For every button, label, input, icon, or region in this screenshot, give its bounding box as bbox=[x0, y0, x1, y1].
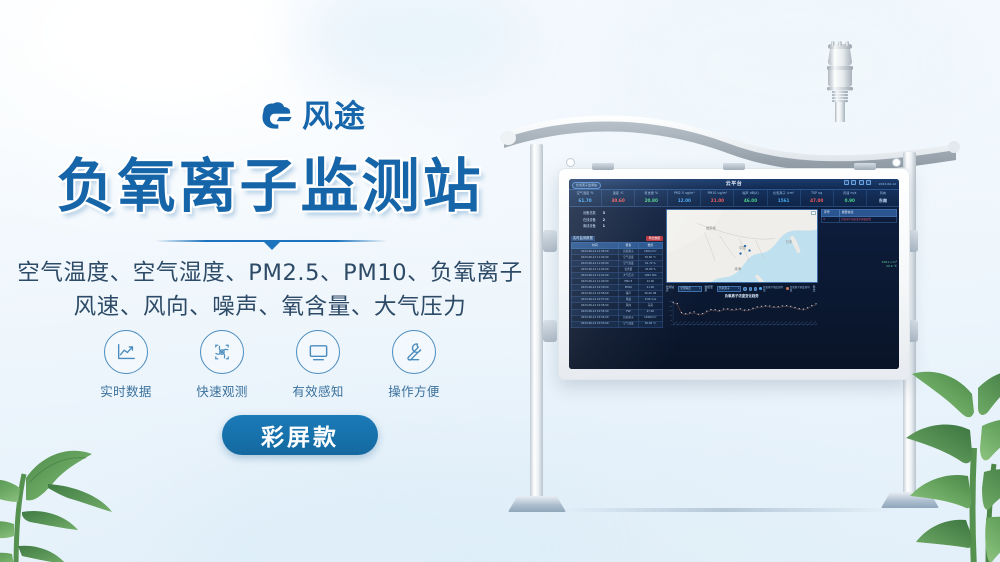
brand-name: 风途 bbox=[302, 102, 366, 133]
feature-label: 快速观测 bbox=[191, 381, 253, 400]
table-cell: 空气温度 bbox=[618, 321, 638, 327]
brand-logo: 风途 bbox=[255, 100, 366, 134]
select-value: 负氧离子 bbox=[719, 287, 730, 290]
kpi-value: 46.00 bbox=[734, 198, 766, 203]
monitoring-station-kiosk: 负氧离子监测站 云平台 2023-06-12 空气湿度 % bbox=[500, 40, 960, 540]
layers-icon[interactable] bbox=[844, 180, 849, 185]
lcd-screen: 负氧离子监测站 云平台 2023-06-12 空气湿度 % bbox=[569, 179, 899, 369]
kpi-value: 47.00 bbox=[801, 198, 833, 203]
right-panel-readouts: 1561 /cm³ 30.6 ℃ bbox=[821, 261, 897, 269]
kpi-value: 1561 bbox=[768, 198, 800, 203]
dashboard-toolbar bbox=[844, 180, 872, 185]
feature-realtime-data[interactable]: 实时数据 bbox=[95, 330, 157, 400]
view-toggle-1[interactable] bbox=[743, 287, 746, 290]
legend-item-1: 负氧离子浓度实时值 bbox=[759, 286, 784, 292]
kpi-tile: 温度 ℃ 30.60 bbox=[602, 190, 635, 206]
display-cabinet: 负氧离子监测站 云平台 2023-06-12 空气湿度 % bbox=[558, 168, 910, 380]
kpi-label: 空气湿度 % bbox=[569, 192, 601, 196]
alarm-row: 1 负氧离子浓度低于阈值报警 bbox=[821, 217, 897, 223]
parameter-list: 空气温度、空气湿度、PM2.5、PM10、负氧离子 风速、风向、噪声、氧含量、大… bbox=[0, 256, 540, 324]
svg-text:1440: 1440 bbox=[669, 310, 672, 312]
counter-label: 在线设备 bbox=[583, 218, 596, 222]
kpi-value: 61.70 bbox=[569, 198, 601, 203]
svg-text:南海: 南海 bbox=[734, 266, 741, 271]
table-cell: 30.40 ℃ bbox=[639, 321, 663, 327]
divider bbox=[0, 236, 540, 250]
dashboard-left-panel: 设备总数 3 在线设备 2 离线设备 1 bbox=[569, 207, 665, 369]
line-chart-icon bbox=[115, 341, 137, 363]
feature-icon-ring bbox=[392, 330, 436, 374]
kpi-value: 30.60 bbox=[602, 198, 634, 203]
parameter-line-2: 风速、风向、噪声、氧含量、大气压力 bbox=[0, 290, 540, 324]
kpi-tile: 风速 m/s 0.90 bbox=[834, 190, 867, 206]
dashboard-timestamp: 2023-06-12 bbox=[879, 183, 896, 187]
device-counters: 设备总数 3 在线设备 2 离线设备 1 bbox=[571, 209, 663, 233]
feature-label: 实时数据 bbox=[95, 381, 157, 400]
cloud-wind-logo-icon bbox=[255, 100, 295, 134]
kpi-label: 风向 bbox=[867, 192, 899, 196]
svg-text:日本: 日本 bbox=[785, 239, 792, 244]
dashboard-body: 设备总数 3 在线设备 2 离线设备 1 bbox=[569, 207, 899, 369]
base-plate-right bbox=[881, 492, 939, 508]
variant-badge-color-screen[interactable]: 彩屏款 bbox=[222, 415, 378, 455]
mount-ring-right bbox=[892, 158, 901, 167]
kpi-tile: 空气湿度 % 61.70 bbox=[569, 190, 602, 206]
feature-easy-operation[interactable]: 操作方便 bbox=[383, 330, 445, 400]
table-body: 2023-06-12 11:05:00负氧离子1561/cm³2023-06-1… bbox=[572, 249, 663, 327]
kpi-value: 东南 bbox=[867, 198, 899, 203]
view-toggle-3[interactable] bbox=[754, 287, 757, 290]
legend-label: 负氧离子浓度实时值 bbox=[763, 286, 784, 292]
counter-label: 设备总数 bbox=[583, 211, 596, 215]
gear-icon[interactable] bbox=[866, 180, 871, 185]
marketing-copy-column: 风途 负氧离子监测站 空气温度、空气湿度、PM2.5、PM10、负氧离子 风速、… bbox=[0, 0, 540, 562]
kpi-strip: 空气湿度 % 61.70 温度 ℃ 30.60 氧含量 % 20.80 PM bbox=[569, 190, 899, 207]
wrench-icon bbox=[403, 341, 425, 363]
view-toggle-2[interactable] bbox=[749, 287, 752, 290]
kpi-label: 风速 m/s bbox=[834, 192, 866, 196]
table-icon[interactable] bbox=[859, 180, 864, 185]
kpi-label: PM10 ug/m³ bbox=[701, 192, 733, 196]
counter-row: 在线设备 2 bbox=[583, 218, 663, 222]
kpi-label: PM2.5 ug/m³ bbox=[668, 192, 700, 196]
kpi-label: 噪声 dB(A) bbox=[734, 192, 766, 196]
export-data-button[interactable]: 导出数据 bbox=[646, 236, 663, 241]
map-controls: 监测站点 全部站点 ▾ 数据要素 负氧离子 ▾ bbox=[666, 286, 818, 293]
kpi-tile: 负氧离子 /cm³ 1561 bbox=[768, 190, 801, 206]
element-select[interactable]: 负氧离子 ▾ bbox=[717, 286, 741, 292]
feature-label: 有效感知 bbox=[287, 381, 349, 400]
svg-text:2400: 2400 bbox=[669, 301, 672, 303]
alarm-index: 1 bbox=[822, 217, 840, 222]
chevron-down-icon: ▾ bbox=[738, 287, 739, 290]
feature-list: 实时数据 bbox=[0, 330, 540, 400]
counter-label: 离线设备 bbox=[583, 224, 596, 228]
radar-scan-icon bbox=[211, 341, 233, 363]
page-title: 负氧离子监测站 bbox=[0, 156, 540, 217]
kpi-value: 21.00 bbox=[701, 198, 733, 203]
kpi-tile: 风向 东南 bbox=[867, 190, 899, 206]
map-landmass: 中国 俄罗斯 日本 南海 bbox=[667, 210, 817, 283]
mount-tab-right bbox=[854, 163, 876, 170]
mount-bracket-left-lower bbox=[543, 320, 557, 342]
realtime-data-table: 时间 要素 数值 2023-06-12 11:05:00负氧离子1561/cm³… bbox=[571, 242, 663, 327]
feature-icon-ring bbox=[104, 330, 148, 374]
station-map[interactable]: 中国 俄罗斯 日本 南海 bbox=[666, 209, 818, 283]
counter-value: 3 bbox=[603, 211, 605, 215]
dashboard-right-panel: 序号 报警信息 1 负氧离子浓度低于阈值报警 1561 /cm³ 30.6 ℃ bbox=[820, 207, 899, 369]
kpi-label: TSP ug bbox=[801, 192, 833, 196]
parameter-line-1: 空气温度、空气湿度、PM2.5、PM10、负氧离子 bbox=[0, 256, 540, 290]
export-link[interactable]: 导出 bbox=[813, 286, 818, 293]
feature-icon-ring bbox=[296, 330, 340, 374]
base-plate-left bbox=[508, 496, 566, 512]
kpi-tile: TSP ug 47.00 bbox=[801, 190, 834, 206]
kpi-tile: 氧含量 % 20.80 bbox=[635, 190, 668, 206]
table-row[interactable]: 2023-06-12 10:53:00空气温度30.40 ℃ bbox=[572, 321, 663, 327]
kpi-tile: PM10 ug/m³ 21.00 bbox=[701, 190, 734, 206]
chart-icon[interactable] bbox=[851, 180, 856, 185]
caret-down-icon bbox=[264, 242, 280, 250]
monitor-screen-icon bbox=[307, 341, 330, 364]
select-value: 全部站点 bbox=[680, 287, 691, 290]
kpi-value: 0.90 bbox=[834, 198, 866, 203]
product-banner: 风途 负氧离子监测站 空气温度、空气湿度、PM2.5、PM10、负氧离子 风速、… bbox=[0, 0, 1000, 562]
counter-row: 离线设备 1 bbox=[583, 224, 663, 228]
legend-swatch bbox=[786, 287, 789, 290]
svg-text:960: 960 bbox=[670, 315, 672, 317]
feature-effective-sensing[interactable]: 有效感知 bbox=[287, 330, 349, 400]
kpi-value: 20.80 bbox=[635, 198, 667, 203]
support-post-left bbox=[530, 144, 543, 502]
mount-tab-center bbox=[723, 163, 745, 170]
station-select[interactable]: 全部站点 ▾ bbox=[678, 286, 702, 292]
column-header: 报警信息 bbox=[840, 210, 856, 216]
column-header: 序号 bbox=[822, 210, 840, 216]
kpi-tile: 噪声 dB(A) 46.00 bbox=[734, 190, 767, 206]
cloud-platform-dashboard: 负氧离子监测站 云平台 2023-06-12 空气湿度 % bbox=[569, 179, 899, 369]
table-cell: 2023-06-12 10:53:00 bbox=[572, 321, 619, 327]
kpi-tile: PM2.5 ug/m³ 12.00 bbox=[668, 190, 701, 206]
table-header-bar: 实时监测数据 导出数据 bbox=[571, 236, 663, 241]
alarm-table-head: 序号 报警信息 bbox=[821, 209, 897, 217]
legend-label: 负氧离子浓度日均值 bbox=[790, 286, 811, 292]
mount-tab-left bbox=[592, 163, 614, 170]
map-zoom-icon[interactable] bbox=[811, 211, 816, 215]
svg-text:0: 0 bbox=[671, 324, 672, 326]
kpi-label: 温度 ℃ bbox=[602, 192, 634, 196]
dashboard-header: 负氧离子监测站 云平台 2023-06-12 bbox=[569, 179, 899, 190]
legend-item-2: 负氧离子浓度日均值 bbox=[786, 286, 811, 292]
ground-shadow bbox=[560, 508, 890, 512]
feature-fast-observation[interactable]: 快速观测 bbox=[191, 330, 253, 400]
counter-value: 1 bbox=[603, 224, 605, 228]
select-label-2: 数据要素 bbox=[704, 286, 714, 293]
feature-label: 操作方便 bbox=[383, 381, 445, 400]
feature-icon-ring bbox=[200, 330, 244, 374]
svg-text:俄罗斯: 俄罗斯 bbox=[706, 226, 717, 231]
trend-chart-panel: 负氧离子浓度变化趋势 048096014401920240006-12 00:0… bbox=[666, 294, 818, 367]
trend-line-chart: 048096014401920240006-12 00:0006-12 01:0… bbox=[666, 299, 818, 330]
kpi-label: 氧含量 % bbox=[635, 192, 667, 196]
counter-value: 2 bbox=[603, 218, 605, 222]
chevron-down-icon: ▾ bbox=[699, 287, 700, 290]
svg-text:1920: 1920 bbox=[669, 306, 672, 308]
kpi-value: 12.00 bbox=[668, 198, 700, 203]
alarm-text: 负氧离子浓度低于阈值报警 bbox=[840, 217, 873, 222]
select-label-1: 监测站点 bbox=[666, 286, 676, 293]
mount-bracket-left bbox=[543, 230, 557, 252]
dashboard-center-panel: 中国 俄罗斯 日本 南海 bbox=[665, 207, 820, 369]
legend-swatch bbox=[759, 287, 762, 290]
chart-title: 负氧离子浓度变化趋势 bbox=[666, 294, 818, 298]
readout-2: 30.6 ℃ bbox=[821, 265, 897, 269]
mount-ring-left bbox=[566, 158, 575, 167]
svg-text:480: 480 bbox=[670, 320, 672, 322]
table-heading: 实时监测数据 bbox=[571, 236, 595, 241]
kpi-label: 负氧离子 /cm³ bbox=[768, 192, 800, 196]
counter-row: 设备总数 3 bbox=[583, 211, 663, 215]
